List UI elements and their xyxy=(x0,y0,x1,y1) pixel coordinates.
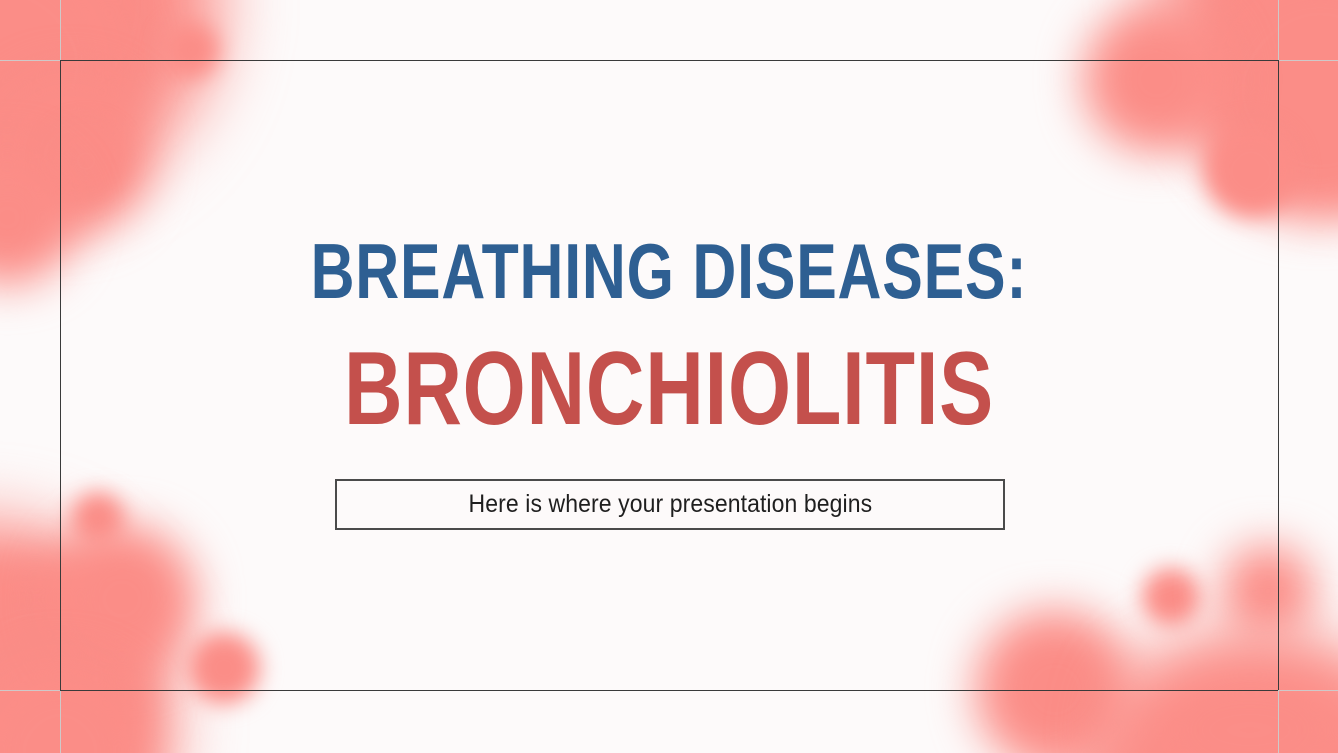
slide-title-line-2: BRONCHIOLITIS xyxy=(147,337,1191,441)
slide-content: BREATHING DISEASES: BRONCHIOLITIS Here i… xyxy=(0,0,1338,753)
subtitle-text: Here is where your presentation begins xyxy=(468,490,872,519)
presentation-slide: BREATHING DISEASES: BRONCHIOLITIS Here i… xyxy=(0,0,1338,753)
slide-title-line-1: BREATHING DISEASES: xyxy=(147,232,1191,310)
subtitle-box: Here is where your presentation begins xyxy=(335,479,1005,530)
